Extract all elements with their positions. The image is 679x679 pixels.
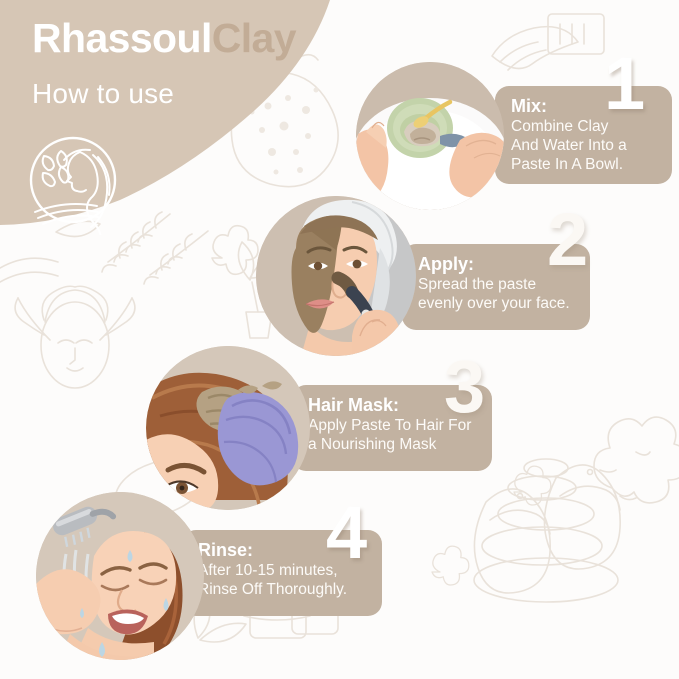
- step-4-number: 4: [326, 496, 367, 570]
- step-2-number: 2: [547, 203, 588, 277]
- watermark-spa-facial-woman: [15, 286, 135, 388]
- watermark-towel-stack: [0, 258, 58, 282]
- step-4-photo: [36, 492, 204, 660]
- brand-logo-icon: [18, 130, 128, 235]
- step-2-photo: [256, 196, 416, 356]
- step-3-photo: [146, 346, 310, 510]
- page-title-secondary: Clay: [212, 15, 296, 61]
- watermark-slippers: [474, 465, 620, 593]
- page-title-primary: Rhassoul: [32, 15, 212, 61]
- page-subtitle: How to use: [32, 78, 174, 110]
- watermark-towel-stack: [492, 14, 604, 70]
- step-3-number: 3: [444, 350, 485, 424]
- page-title: RhassoulClay: [32, 18, 296, 59]
- watermark-ginger-root: [594, 417, 679, 503]
- step-1-textbox: Mix: Combine Clay And Water Into a Paste…: [495, 86, 672, 184]
- step-2-body: Spread the paste evenly over your face.: [418, 276, 576, 314]
- step-1-body: Combine Clay And Water Into a Paste In A…: [511, 118, 658, 175]
- watermark-stacked-stones: [474, 459, 618, 602]
- infographic-poster: RhassoulClay How to use Mix: Combine Cla: [0, 0, 679, 679]
- step-1-number: 1: [604, 47, 645, 121]
- step-1-photo: [356, 62, 504, 210]
